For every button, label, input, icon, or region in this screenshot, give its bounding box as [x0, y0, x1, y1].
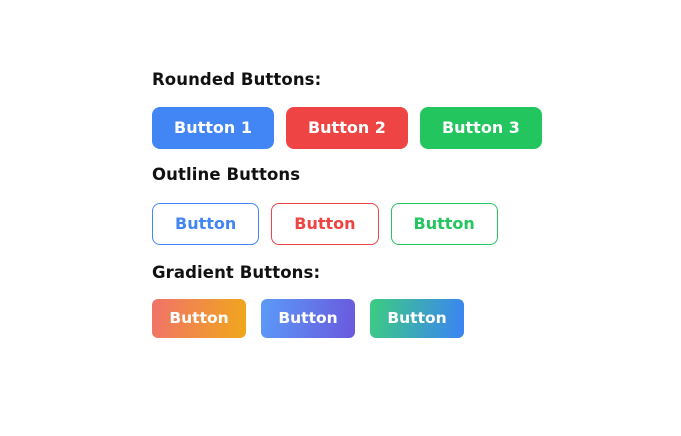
section-heading-rounded: Rounded Buttons: [152, 70, 681, 90]
rounded-button-2[interactable]: Button 2 [286, 107, 408, 149]
page-root: Rounded Buttons: Button 1 Button 2 Butto… [0, 0, 681, 436]
section-gradient-buttons: Gradient Buttons: Button Button Button [152, 263, 681, 339]
section-heading-outline: Outline Buttons [152, 165, 681, 185]
outline-button-blue[interactable]: Button [152, 203, 259, 245]
outline-button-row: Button Button Button [152, 203, 681, 245]
outline-button-red[interactable]: Button [271, 203, 378, 245]
rounded-button-row: Button 1 Button 2 Button 3 [152, 107, 681, 149]
gradient-button-orange-red[interactable]: Button [152, 299, 246, 338]
rounded-button-1[interactable]: Button 1 [152, 107, 274, 149]
gradient-button-row: Button Button Button [152, 299, 681, 338]
rounded-button-3[interactable]: Button 3 [420, 107, 542, 149]
section-outline-buttons: Outline Buttons Button Button Button [152, 165, 681, 245]
gradient-button-green-blue[interactable]: Button [370, 299, 464, 338]
section-heading-gradient: Gradient Buttons: [152, 263, 681, 283]
section-rounded-buttons: Rounded Buttons: Button 1 Button 2 Butto… [152, 70, 681, 149]
outline-button-green[interactable]: Button [391, 203, 498, 245]
gradient-button-blue-purple[interactable]: Button [261, 299, 355, 338]
